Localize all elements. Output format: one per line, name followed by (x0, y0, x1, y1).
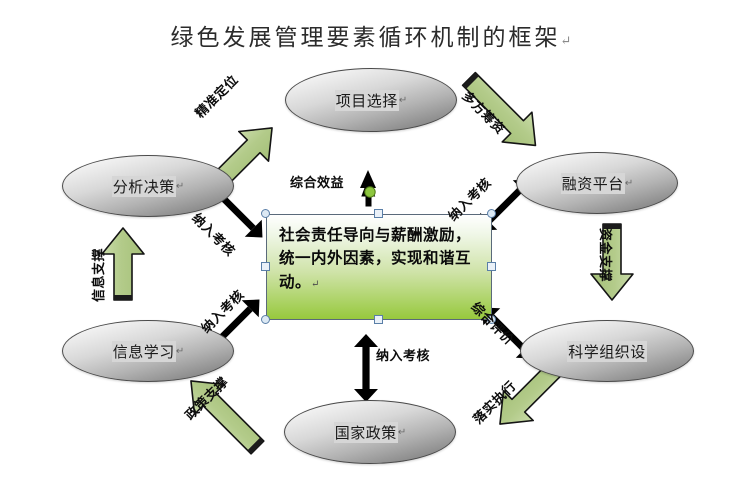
center-box-text-wrap: 社会责任导向与薪酬激励，统一内外因素，实现和谐互动。↵ (279, 223, 481, 293)
resize-handle-middle-left[interactable] (261, 262, 270, 271)
node-financing-platform[interactable]: 融资平台↵ (516, 152, 678, 214)
label-inclusion-assessment-bottom: 纳入考核 (376, 345, 430, 364)
resize-handle-top-left[interactable] (261, 209, 270, 218)
resize-handle-bottom-left[interactable] (261, 315, 270, 324)
node-label: 项目选择 (335, 90, 399, 111)
node-label: 分析决策 (112, 176, 176, 197)
center-box-pilcrow: ↵ (311, 279, 320, 290)
black-arrow-inclusion-assessment-bottom (354, 334, 378, 402)
label-comprehensive-benefit: 综合效益 (290, 172, 344, 191)
node-scientific-organization[interactable]: 科学组织设 (520, 320, 694, 382)
node-national-policy[interactable]: 国家政策↵ (284, 400, 456, 464)
green-arrow-multi-party-financing (454, 64, 550, 160)
resize-handle-top-right[interactable] (487, 209, 496, 218)
node-pilcrow: ↵ (176, 346, 184, 357)
node-pilcrow: ↵ (398, 427, 406, 438)
label-capital-support: 资金支撑 (597, 228, 616, 282)
center-box-text: 社会责任导向与薪酬激励，统一内外因素，实现和谐互动。 (279, 225, 471, 291)
node-pilcrow: ↵ (176, 181, 184, 192)
node-pilcrow: ↵ (625, 178, 633, 189)
resize-handle-top-center[interactable] (374, 209, 383, 218)
node-label: 科学组织设 (567, 341, 647, 362)
center-statement-box[interactable]: 社会责任导向与薪酬激励，统一内外因素，实现和谐互动。↵ (266, 214, 492, 320)
black-arrow-comprehensive-benefit (360, 170, 376, 206)
node-label: 融资平台 (561, 173, 625, 194)
green-arrow-information-support (102, 228, 144, 300)
node-project-selection[interactable]: 项目选择↵ (285, 68, 457, 132)
node-analysis-decision[interactable]: 分析决策↵ (62, 155, 234, 217)
label-information-support: 信息支撑 (88, 248, 107, 302)
diagram-canvas: 绿色发展管理要素循环机制的框架↵ (0, 0, 742, 490)
resize-handle-middle-right[interactable] (487, 262, 496, 271)
node-label: 国家政策 (334, 422, 398, 443)
resize-handle-bottom-center[interactable] (374, 315, 383, 324)
node-pilcrow: ↵ (399, 95, 407, 106)
node-label: 信息学习 (112, 341, 176, 362)
